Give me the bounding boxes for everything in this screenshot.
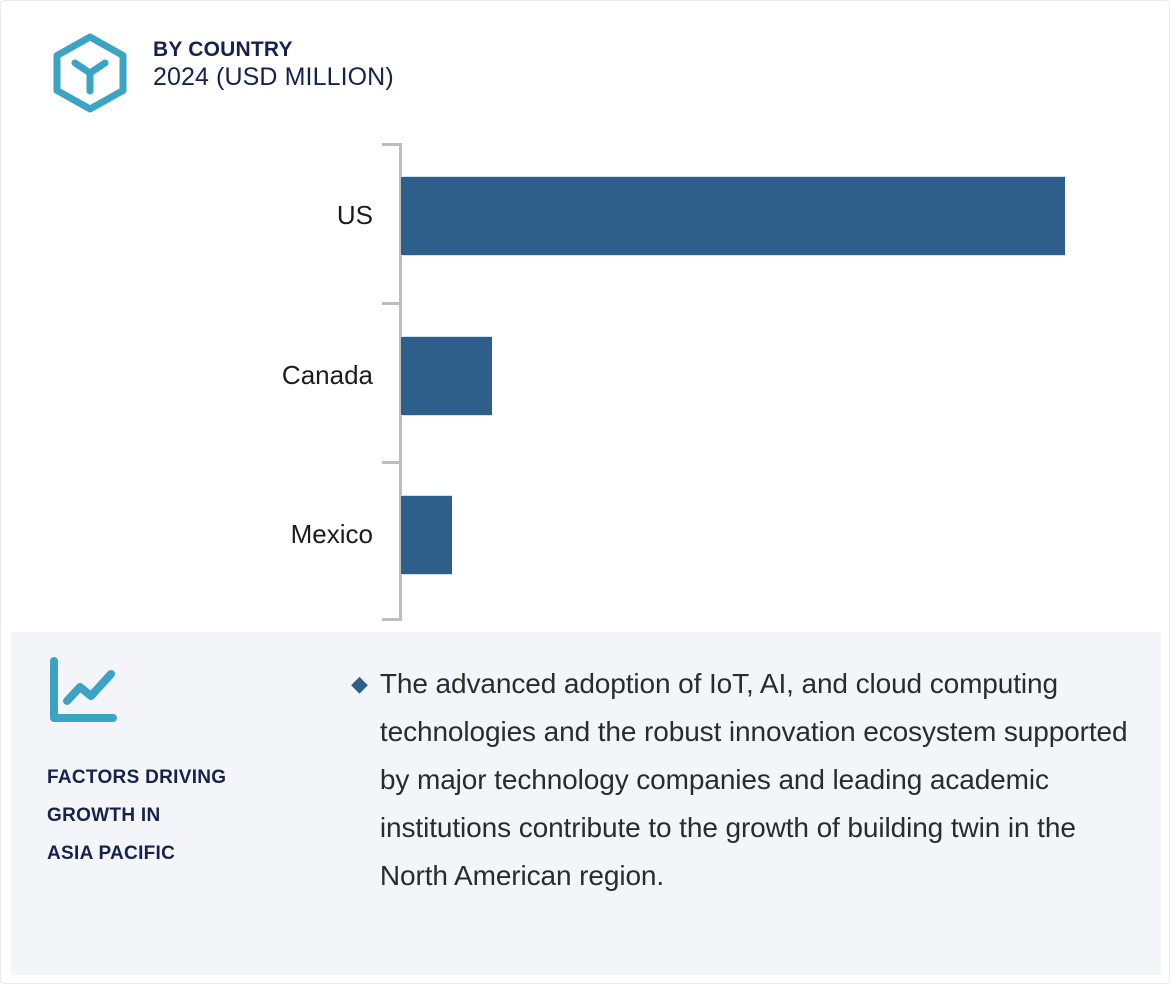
factors-heading-line-2: GROWTH IN xyxy=(47,797,347,835)
hexagon-y-icon xyxy=(49,32,131,114)
axis-tick-1 xyxy=(382,302,400,305)
axis-tick-bottom xyxy=(382,618,400,621)
factors-heading-line-3: ASIA PACIFIC xyxy=(47,835,347,873)
factors-heading: FACTORS DRIVING GROWTH IN ASIA PACIFIC xyxy=(47,759,347,873)
bar-row-us: US xyxy=(1,176,1170,256)
diamond-bullet-icon: ◆ xyxy=(351,660,380,900)
factors-bullet-text: The advanced adoption of IoT, AI, and cl… xyxy=(380,660,1141,900)
header-text-block: BY COUNTRY 2024 (USD MILLION) xyxy=(153,32,394,93)
bar-canada[interactable] xyxy=(401,336,492,416)
bar-row-mexico: Mexico xyxy=(1,495,1170,575)
bar-mexico[interactable] xyxy=(401,495,452,575)
factors-heading-line-1: FACTORS DRIVING xyxy=(47,759,347,797)
bar-us[interactable] xyxy=(401,176,1065,256)
bar-label-us: US xyxy=(337,200,373,230)
bar-chart: US Canada Mexico xyxy=(1,131,1170,631)
bar-label-canada: Canada xyxy=(282,360,373,390)
axis-tick-top xyxy=(382,143,400,146)
chart-header: BY COUNTRY 2024 (USD MILLION) xyxy=(49,32,394,114)
factors-bullet-item: ◆ The advanced adoption of IoT, AI, and … xyxy=(351,660,1141,900)
factors-panel: FACTORS DRIVING GROWTH IN ASIA PACIFIC ◆… xyxy=(11,632,1161,975)
line-chart-icon xyxy=(47,656,347,726)
bar-label-mexico: Mexico xyxy=(291,519,373,549)
factors-left-column: FACTORS DRIVING GROWTH IN ASIA PACIFIC xyxy=(47,656,347,873)
page-subtitle: 2024 (USD MILLION) xyxy=(153,62,394,93)
infographic-card: BY COUNTRY 2024 (USD MILLION) US Canada … xyxy=(0,0,1170,984)
page-title: BY COUNTRY xyxy=(153,37,394,62)
bar-row-canada: Canada xyxy=(1,336,1170,416)
axis-tick-2 xyxy=(382,461,400,464)
